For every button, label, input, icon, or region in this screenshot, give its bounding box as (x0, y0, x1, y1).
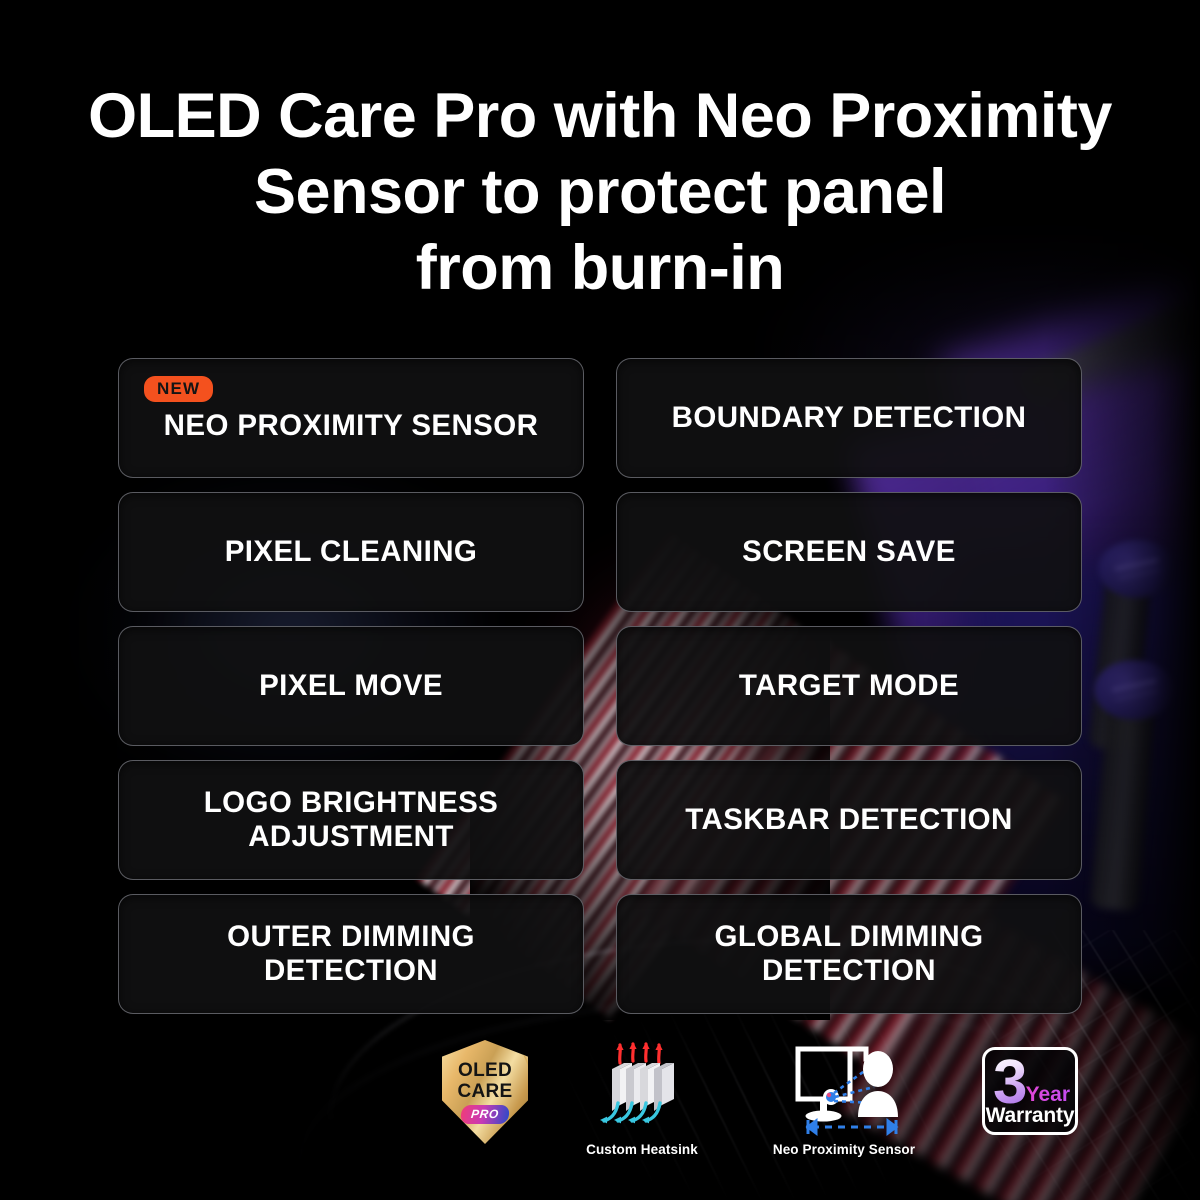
feature-label: BOUNDARY DETECTION (672, 401, 1027, 435)
proximity-sensor-icon (774, 1041, 914, 1137)
feature-label: TASKBAR DETECTION (685, 803, 1012, 837)
feature-label: PIXEL MOVE (259, 669, 443, 703)
oled-care-pro-badge: OLED CARE PRO (425, 1040, 545, 1144)
feature-label: LOGO BRIGHTNESS ADJUSTMENT (204, 786, 498, 854)
custom-heatsink-badge: Custom Heatsink (580, 1041, 704, 1157)
promo-banner: OLED Care Pro with Neo Proximity Sensor … (0, 0, 1200, 1200)
feature-card-outer-dimming-detection[interactable]: OUTER DIMMING DETECTION (118, 894, 584, 1014)
warranty-word: Warranty (985, 1105, 1075, 1127)
badge-row: OLED CARE PRO (0, 1035, 1200, 1165)
feature-card-boundary-detection[interactable]: BOUNDARY DETECTION (616, 358, 1082, 478)
background-knob (1094, 660, 1174, 720)
page-title: OLED Care Pro with Neo Proximity Sensor … (0, 78, 1200, 306)
warranty-year: Year (1026, 1084, 1070, 1105)
feature-label: SCREEN SAVE (742, 535, 956, 569)
shield-icon: OLED CARE PRO (442, 1040, 528, 1144)
feature-label: TARGET MODE (739, 669, 959, 703)
neo-sensor-caption: Neo Proximity Sensor (770, 1142, 918, 1157)
title-line-2: Sensor to protect panel (0, 154, 1200, 230)
feature-label: GLOBAL DIMMING DETECTION (715, 920, 984, 988)
warranty-box: 3 Year Warranty (982, 1047, 1078, 1135)
feature-card-neo-proximity-sensor[interactable]: NEW NEO PROXIMITY SENSOR (118, 358, 584, 478)
neo-proximity-sensor-badge: Neo Proximity Sensor (770, 1041, 918, 1157)
feature-label: PIXEL CLEANING (225, 535, 478, 569)
feature-label: OUTER DIMMING DETECTION (227, 920, 475, 988)
feature-card-global-dimming-detection[interactable]: GLOBAL DIMMING DETECTION (616, 894, 1082, 1014)
feature-card-target-mode[interactable]: TARGET MODE (616, 626, 1082, 746)
warranty-badge: 3 Year Warranty (970, 1047, 1090, 1135)
pro-pill: PRO (460, 1105, 510, 1124)
feature-card-logo-brightness-adjustment[interactable]: LOGO BRIGHTNESS ADJUSTMENT (118, 760, 584, 880)
feature-card-taskbar-detection[interactable]: TASKBAR DETECTION (616, 760, 1082, 880)
title-line-1: OLED Care Pro with Neo Proximity (0, 78, 1200, 154)
new-badge: NEW (144, 376, 213, 402)
title-line-3: from burn-in (0, 230, 1200, 306)
shield-line-2: CARE (457, 1082, 512, 1102)
heatsink-icon (586, 1041, 698, 1137)
feature-card-screen-save[interactable]: SCREEN SAVE (616, 492, 1082, 612)
shield-line-1: OLED (458, 1061, 512, 1081)
feature-card-pixel-move[interactable]: PIXEL MOVE (118, 626, 584, 746)
feature-grid: NEW NEO PROXIMITY SENSOR BOUNDARY DETECT… (118, 358, 1082, 1014)
heatsink-caption: Custom Heatsink (580, 1142, 704, 1157)
feature-label: NEO PROXIMITY SENSOR (164, 409, 539, 443)
background-knob (1098, 540, 1176, 598)
feature-card-pixel-cleaning[interactable]: PIXEL CLEANING (118, 492, 584, 612)
